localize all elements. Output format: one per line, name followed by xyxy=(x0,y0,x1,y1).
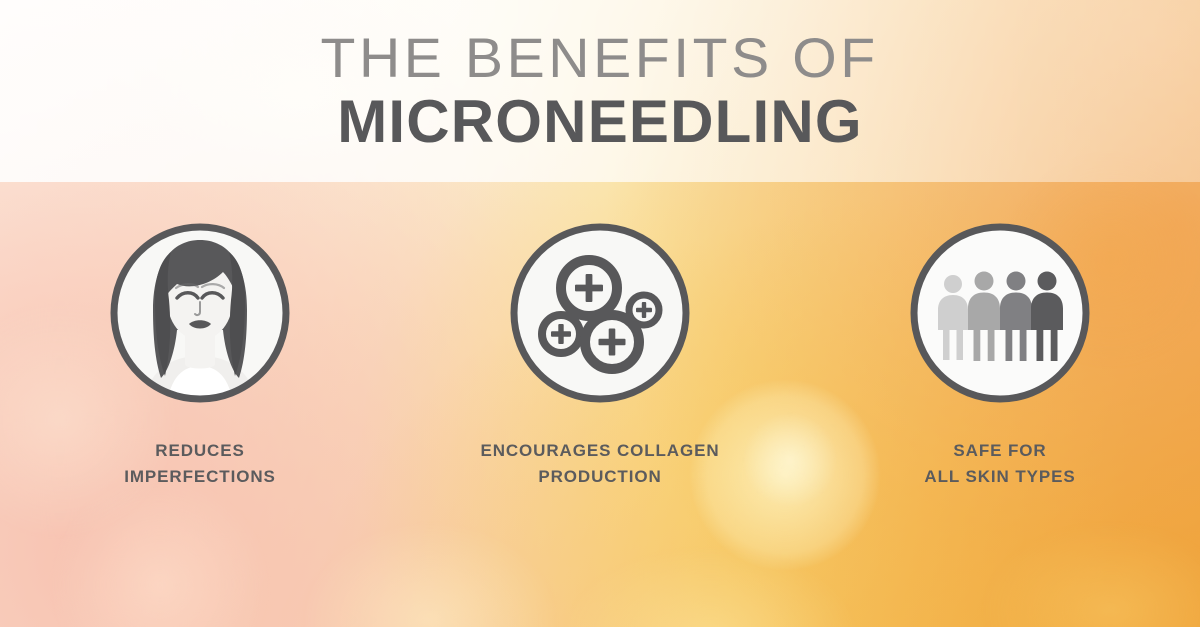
bokeh-blob xyxy=(980,520,1200,627)
benefit-label: SAFE FOR ALL SKIN TYPES xyxy=(924,438,1075,491)
collagen-molecules-icon xyxy=(505,218,695,408)
benefit-item-encourages-collagen: ENCOURAGES COLLAGEN PRODUCTION xyxy=(400,218,800,491)
benefit-item-safe-all-skin-types: SAFE FOR ALL SKIN TYPES xyxy=(800,218,1200,491)
title-line-secondary: MICRONEEDLING xyxy=(337,90,863,153)
title-line-primary: THE BENEFITS OF xyxy=(321,29,879,86)
benefit-label: REDUCES IMPERFECTIONS xyxy=(124,438,276,491)
bokeh-blob xyxy=(45,470,275,627)
bokeh-blob xyxy=(300,520,560,627)
infographic-canvas: THE BENEFITS OF MICRONEEDLING xyxy=(0,0,1200,627)
page-title: THE BENEFITS OF MICRONEEDLING xyxy=(0,0,1200,182)
benefits-row: REDUCES IMPERFECTIONS xyxy=(0,218,1200,491)
benefit-label: ENCOURAGES COLLAGEN PRODUCTION xyxy=(480,438,719,491)
people-skin-tones-icon xyxy=(905,218,1095,408)
bokeh-blob xyxy=(560,545,860,627)
woman-face-icon xyxy=(105,218,295,408)
benefit-item-reduces-imperfections: REDUCES IMPERFECTIONS xyxy=(0,218,400,491)
